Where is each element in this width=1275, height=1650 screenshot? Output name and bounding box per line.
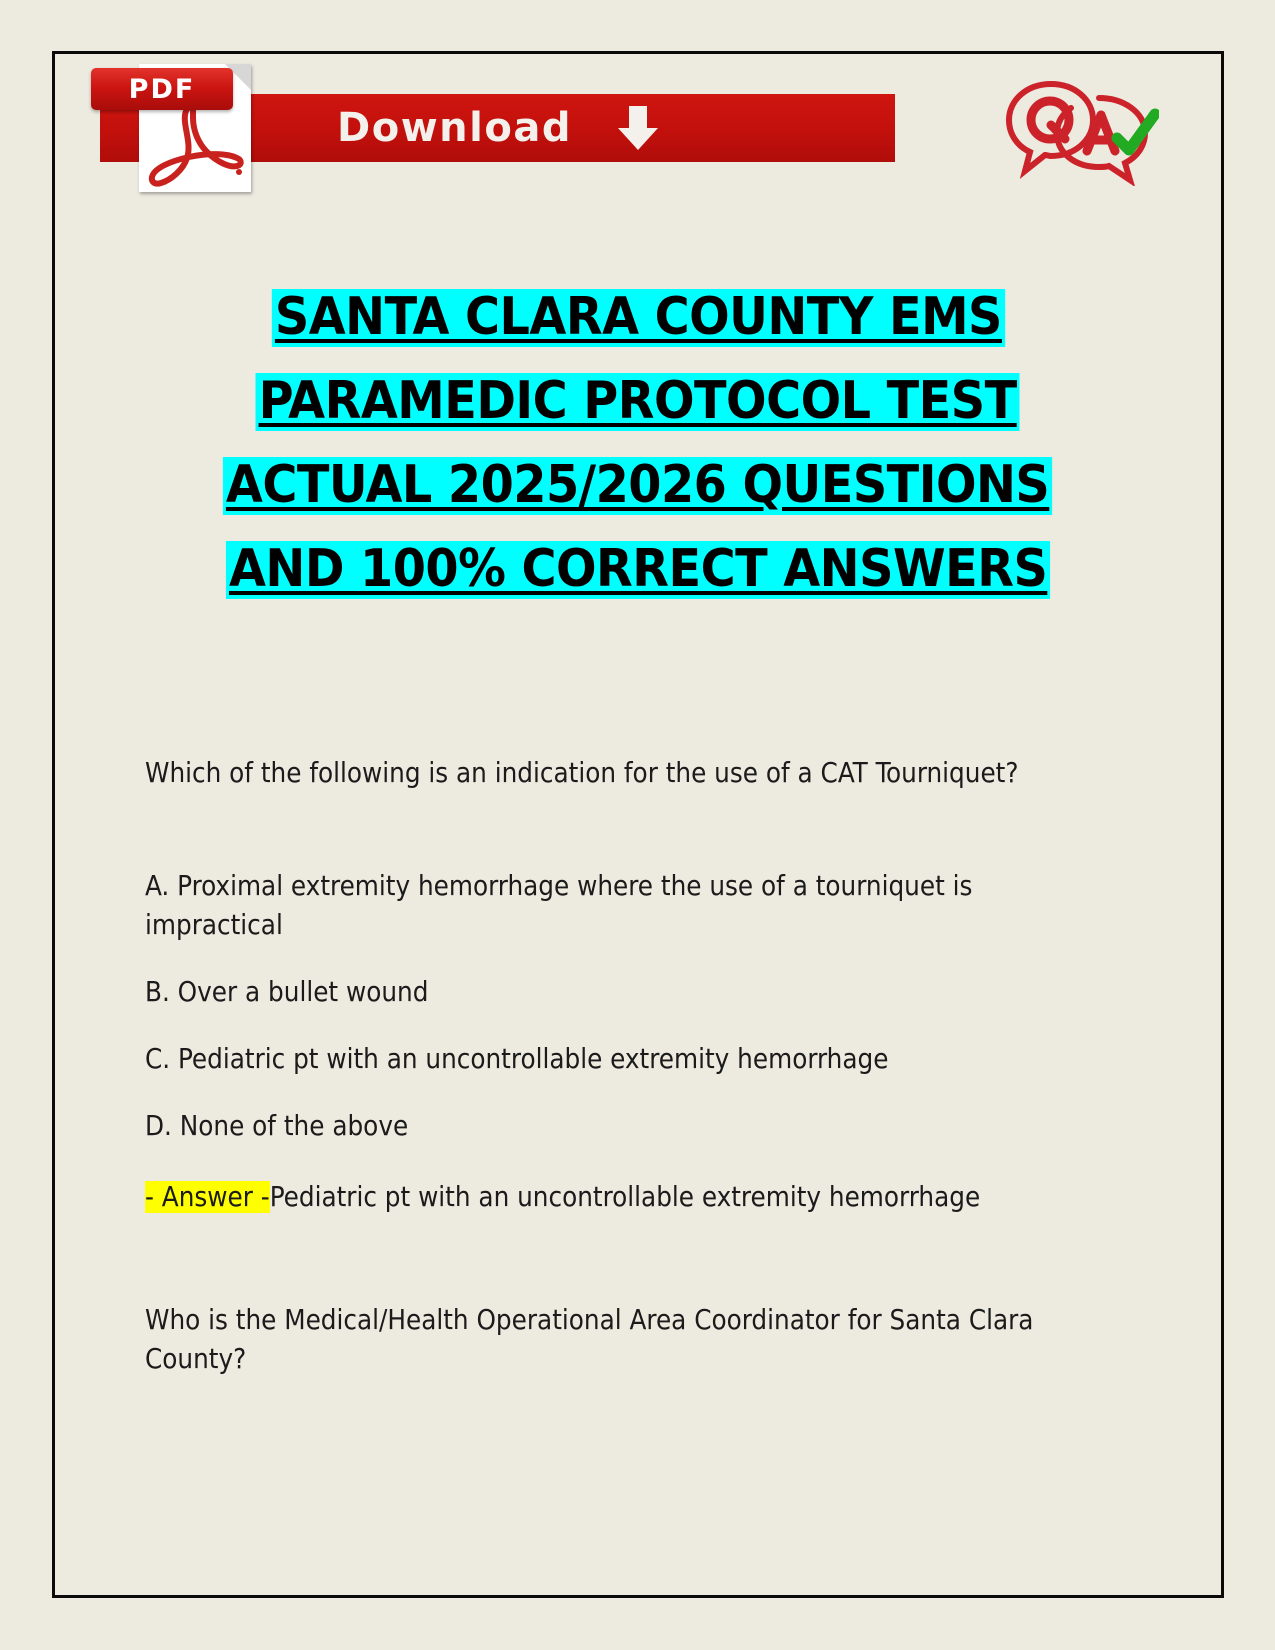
- pdf-banner-label: PDF: [129, 74, 196, 105]
- title-line-4: AND 100% CORRECT ANSWERS: [55, 541, 1221, 599]
- title-line-1-text: SANTA CLARA COUNTY EMS: [271, 289, 1004, 347]
- title-line-3: ACTUAL 2025/2026 QUESTIONS: [55, 457, 1221, 515]
- title-line-4-text: AND 100% CORRECT ANSWERS: [226, 541, 1050, 599]
- choice-c: C. Pediatric pt with an uncontrollable e…: [145, 1040, 1110, 1079]
- pdf-banner: PDF: [91, 68, 233, 110]
- choice-a: A. Proximal extremity hemorrhage where t…: [145, 867, 1110, 945]
- qa-logo-icon: [999, 76, 1159, 186]
- pdf-file-icon: PDF: [91, 60, 251, 192]
- answer-text: Pediatric pt with an uncontrollable extr…: [270, 1181, 980, 1213]
- title-line-2-text: PARAMEDIC PROTOCOL TEST: [256, 373, 1020, 431]
- answer-marker: - Answer -: [145, 1181, 270, 1213]
- document-page-frame: Download PDF: [52, 51, 1224, 1598]
- choice-b: B. Over a bullet wound: [145, 973, 1110, 1012]
- title-line-2: PARAMEDIC PROTOCOL TEST: [55, 373, 1221, 431]
- title-line-1: SANTA CLARA COUNTY EMS: [55, 289, 1221, 347]
- green-check-icon: [1117, 114, 1155, 150]
- choice-d: D. None of the above: [145, 1107, 1110, 1146]
- document-body: Which of the following is an indication …: [145, 754, 1110, 1379]
- question-bubble-icon: [1009, 84, 1093, 171]
- adobe-acrobat-swirl-icon: [143, 100, 247, 192]
- page-title: SANTA CLARA COUNTY EMS PARAMEDIC PROTOCO…: [55, 289, 1221, 625]
- title-line-3-text: ACTUAL 2025/2026 QUESTIONS: [223, 457, 1052, 515]
- download-button-label: Download: [337, 105, 572, 151]
- document-header: Download PDF: [55, 54, 1221, 204]
- download-arrow-icon: [618, 106, 658, 150]
- question-2-text: Who is the Medical/Health Operational Ar…: [145, 1301, 1110, 1379]
- answer-line: - Answer -Pediatric pt with an uncontrol…: [145, 1178, 1110, 1217]
- question-1-text: Which of the following is an indication …: [145, 754, 1110, 793]
